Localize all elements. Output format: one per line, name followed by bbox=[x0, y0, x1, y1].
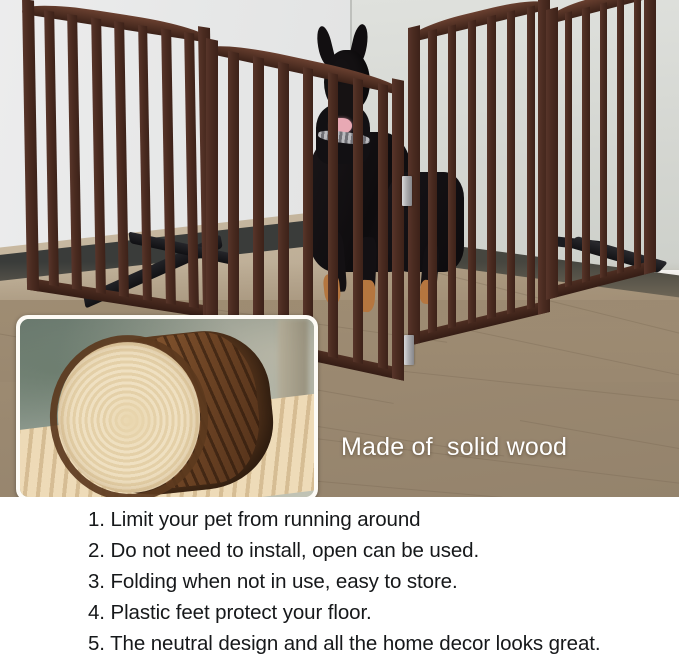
gate-panel-4-stile-left bbox=[546, 7, 558, 300]
gate-panel-2-slat bbox=[253, 56, 263, 342]
gate-panel-2-slat bbox=[328, 72, 338, 358]
product-photo: Made of solid wood bbox=[0, 0, 679, 497]
gate-panel-4 bbox=[546, 0, 656, 300]
gate-panel-1-slat bbox=[161, 28, 176, 304]
gate-panel-2-stile-right bbox=[392, 78, 404, 381]
gate-panel-4-stile-right bbox=[644, 0, 656, 275]
gate-panel-3-slat bbox=[487, 15, 495, 319]
gate-panel-2-slat bbox=[378, 83, 388, 369]
gate-panel-3 bbox=[408, 0, 550, 346]
gate-panel-4-slat bbox=[634, 0, 641, 269]
gate-panel-4-slat bbox=[565, 11, 572, 287]
gate-panel-3-slat bbox=[527, 6, 535, 310]
gate-panel-1-frame bbox=[22, 0, 215, 319]
gate-panel-3-slat bbox=[468, 20, 476, 324]
gate-panel-1-slat bbox=[91, 17, 106, 293]
feature-item-5: 5. The neutral design and all the home d… bbox=[88, 632, 600, 656]
feature-item-2: 2. Do not need to install, open can be u… bbox=[88, 539, 479, 563]
feature-item-4: 4. Plastic feet protect your floor. bbox=[88, 601, 372, 625]
gate-panel-4-slat bbox=[582, 7, 589, 283]
gate-panel-3-slat bbox=[428, 29, 436, 333]
gate-panel-3-slat bbox=[507, 10, 515, 314]
inset-photo-inner bbox=[20, 319, 314, 497]
inset-photo-solid-wood bbox=[16, 315, 318, 497]
gate-panel-2-slat bbox=[278, 62, 288, 348]
gate-panel-1-slat bbox=[67, 14, 82, 290]
made-of-solid-wood-caption: Made of solid wood bbox=[341, 433, 567, 462]
gate-panel-2-slat bbox=[353, 78, 363, 364]
gate-panel-1-slat bbox=[185, 32, 200, 308]
feature-item-3: 3. Folding when not in use, easy to stor… bbox=[88, 570, 458, 594]
gate-panel-4-slat bbox=[617, 0, 624, 274]
gate-panel-4-slat bbox=[600, 2, 607, 278]
feature-item-1: 1. Limit your pet from running around bbox=[88, 508, 420, 532]
gate-panel-1-slat bbox=[114, 21, 129, 297]
gate-panel-2-slat bbox=[303, 67, 313, 353]
gate-hinge-lower bbox=[404, 335, 414, 365]
gate-panel-1 bbox=[22, 0, 215, 319]
gate-panel-1-slat bbox=[138, 25, 153, 301]
gate-panel-1-slat bbox=[44, 10, 59, 286]
gate-hinge-upper bbox=[402, 176, 412, 206]
gate-panel-2-slat bbox=[228, 51, 238, 337]
gate-panel-3-slat bbox=[448, 24, 456, 328]
gate-panel-3-frame bbox=[408, 0, 550, 346]
feature-list: 1. Limit your pet from running around 2.… bbox=[0, 497, 679, 669]
gate-panel-4-frame bbox=[546, 0, 656, 300]
gate-panel-2-stile-left bbox=[206, 38, 218, 341]
